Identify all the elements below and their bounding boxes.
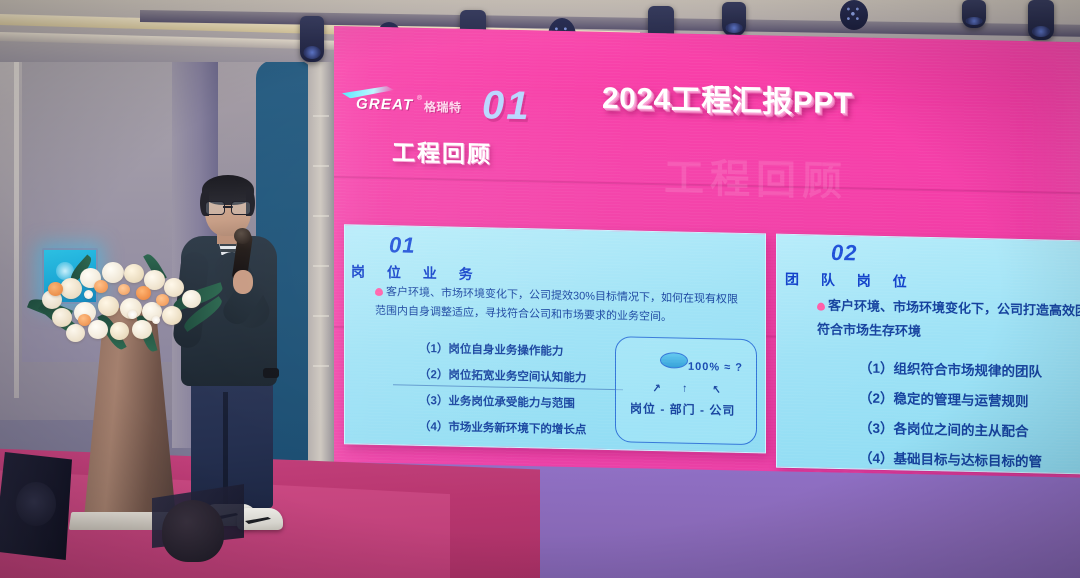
card-bullet-paragraph: 客户环境、市场环境变化下，公司提效30%目标情况下，如何在现有权限范围内自身调整… xyxy=(375,283,745,329)
card-list-item: （2）岗位拓宽业务空间认知能力 xyxy=(419,366,586,386)
brand-chinese-name: 格瑞特 xyxy=(424,98,462,116)
card-list-item: （4）市场业务新环境下的增长点 xyxy=(419,418,586,438)
trademark-icon: ® xyxy=(417,95,422,102)
card-list-item: （3）各岗位之间的主从配合 xyxy=(859,416,1029,440)
card-bullet-text: 客户环境、市场环境变化下，公司打造高效团队符合市场生存环境 xyxy=(817,298,1080,339)
arrow-up-left-icon: ↖ xyxy=(711,383,722,397)
content-card-02: 02 团 队 岗 位 客户环境、市场环境变化下，公司打造高效团队符合市场生存环境… xyxy=(776,234,1080,475)
diagram-chain-label: 岗位 - 部门 - 公司 xyxy=(630,399,735,418)
diagram-percent-label: 100% ≈ ? xyxy=(688,361,743,374)
audience-head xyxy=(162,500,224,562)
brand-wordmark: GREAT xyxy=(356,95,413,113)
conference-stage-photo: GREAT ® 格瑞特 01 2024工程汇报PPT 工程回顾 工程回顾 01 … xyxy=(0,0,1080,578)
card-number: 01 xyxy=(389,232,415,259)
speaker-glasses xyxy=(205,201,251,213)
arrow-up-icon: ↑ xyxy=(682,383,688,395)
ellipse-icon xyxy=(660,352,688,369)
slide-section-number: 01 xyxy=(482,83,531,129)
wristwatch xyxy=(263,368,279,378)
bullet-icon xyxy=(817,303,825,311)
flower-arrangement xyxy=(32,256,222,348)
card-number: 02 xyxy=(831,240,857,267)
card-list-item: （4）基础目标与达标目标的管 xyxy=(859,446,1042,470)
led-presentation-screen: GREAT ® 格瑞特 01 2024工程汇报PPT 工程回顾 工程回顾 01 … xyxy=(334,26,1080,512)
presentation-slide: GREAT ® 格瑞特 01 2024工程汇报PPT 工程回顾 工程回顾 01 … xyxy=(334,26,1080,512)
great-brand-logo: GREAT ® 格瑞特 xyxy=(342,84,462,117)
nike-swoosh-icon xyxy=(245,517,271,524)
arrow-up-right-icon: ↗ xyxy=(651,382,662,396)
card-divider xyxy=(393,384,623,390)
slide-subtitle: 工程回顾 xyxy=(392,133,492,169)
speaker-hand xyxy=(233,270,253,294)
wall-edge-trim xyxy=(14,38,19,398)
stage-light-fixture xyxy=(962,0,986,28)
card-heading: 团 队 岗 位 xyxy=(785,269,916,292)
card-list-item: （3）业务岗位承受能力与范围 xyxy=(419,392,575,411)
stage-light-fixture xyxy=(300,16,324,62)
content-card-01: 01 岗 位 业 务 客户环境、市场环境变化下，公司提效30%目标情况下，如何在… xyxy=(344,224,766,453)
speaker-cone-icon xyxy=(16,482,56,526)
capacity-diagram: 100% ≈ ? ↗ ↑ ↖ 岗位 - 部门 - 公司 xyxy=(615,336,757,445)
stage-light-fixture xyxy=(840,0,868,30)
bullet-icon xyxy=(375,288,383,296)
stage-light-fixture xyxy=(1028,0,1054,40)
card-list-item: （1）岗位自身业务操作能力 xyxy=(419,340,563,359)
card-list-item: （2）稳定的管理与运营规则 xyxy=(859,386,1029,410)
card-bullet-paragraph: 客户环境、市场环境变化下，公司打造高效团队符合市场生存环境 xyxy=(817,294,1080,348)
card-heading: 岗 位 业 务 xyxy=(351,261,482,284)
slide-title: 2024工程汇报PPT xyxy=(602,73,853,122)
card-bullet-text: 客户环境、市场环境变化下，公司提效30%目标情况下，如何在现有权限范围内自身调整… xyxy=(375,286,738,323)
slide-watermark-text: 工程回顾 xyxy=(664,145,848,207)
stage-light-fixture xyxy=(722,2,746,36)
card-list-item: （1）组织符合市场规律的团队 xyxy=(859,356,1042,380)
